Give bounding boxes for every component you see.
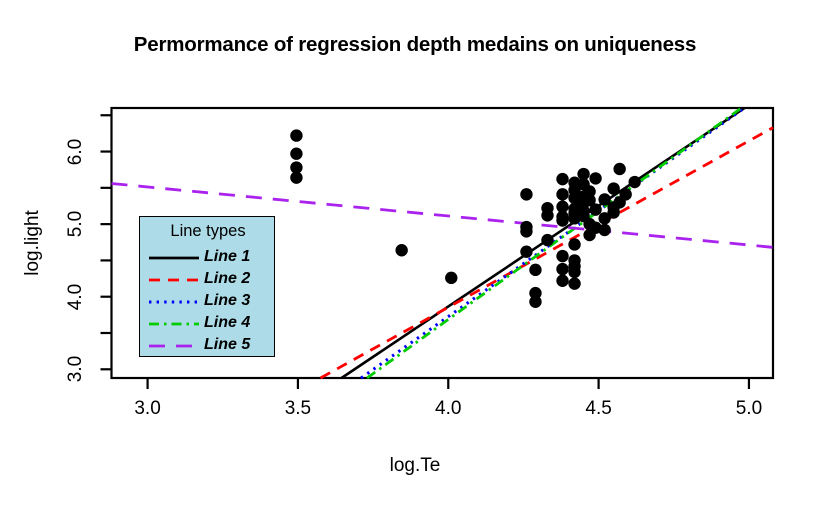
data-point: [619, 188, 631, 200]
data-point: [556, 173, 568, 185]
legend-line-swatch: [148, 247, 200, 269]
x-tick-label: 4.0: [435, 398, 461, 420]
legend-item-label: Line 5: [204, 336, 250, 354]
x-tick-label: 3.5: [285, 398, 311, 420]
data-point: [598, 224, 610, 236]
legend-item-label: Line 3: [204, 292, 250, 310]
data-point: [568, 277, 580, 289]
data-point: [556, 275, 568, 287]
data-point: [568, 238, 580, 250]
legend-item[interactable]: Line 1: [140, 247, 276, 269]
data-point: [556, 250, 568, 262]
legend-line-swatch: [148, 335, 200, 357]
data-point: [556, 188, 568, 200]
legend-item-label: Line 2: [204, 270, 250, 288]
data-point: [541, 234, 553, 246]
x-axis-label: log.Te: [0, 455, 830, 477]
data-point: [395, 244, 407, 256]
legend-title: Line types: [140, 222, 276, 241]
y-tick-label: 6.0: [65, 138, 87, 164]
data-point: [589, 203, 601, 215]
y-tick-label: 5.0: [65, 211, 87, 237]
data-point: [290, 129, 302, 141]
data-point: [520, 246, 532, 258]
data-point: [290, 171, 302, 183]
regression-line-line-2: [320, 128, 773, 378]
legend-item-label: Line 1: [204, 248, 250, 266]
legend-line-swatch: [148, 313, 200, 335]
legend[interactable]: Line types Line 1Line 2Line 3Line 4Line …: [139, 216, 275, 357]
data-point: [290, 148, 302, 160]
data-point: [529, 296, 541, 308]
data-point: [520, 221, 532, 233]
legend-item[interactable]: Line 5: [140, 335, 276, 357]
data-point: [589, 172, 601, 184]
legend-item[interactable]: Line 2: [140, 269, 276, 291]
data-point: [556, 263, 568, 275]
data-point: [556, 214, 568, 226]
y-tick-label: 4.0: [65, 283, 87, 309]
legend-line-swatch: [148, 269, 200, 291]
x-tick-label: 4.5: [585, 398, 611, 420]
x-tick-label: 3.0: [134, 398, 160, 420]
chart-canvas: Permormance of regression depth medains …: [0, 0, 830, 515]
data-point: [541, 209, 553, 221]
data-point: [529, 264, 541, 276]
data-point: [568, 266, 580, 278]
data-point: [628, 176, 640, 188]
data-point: [613, 163, 625, 175]
legend-line-swatch: [148, 291, 200, 313]
y-axis-label: log.light: [22, 210, 44, 276]
legend-item[interactable]: Line 4: [140, 313, 276, 335]
y-tick-label: 3.0: [65, 356, 87, 382]
x-tick-label: 5.0: [736, 398, 762, 420]
regression-line-line-4: [367, 108, 741, 378]
plot-area: [0, 0, 830, 515]
data-point: [445, 272, 457, 284]
data-point: [607, 182, 619, 194]
legend-item-label: Line 4: [204, 314, 250, 332]
legend-item[interactable]: Line 3: [140, 291, 276, 313]
data-point: [520, 188, 532, 200]
